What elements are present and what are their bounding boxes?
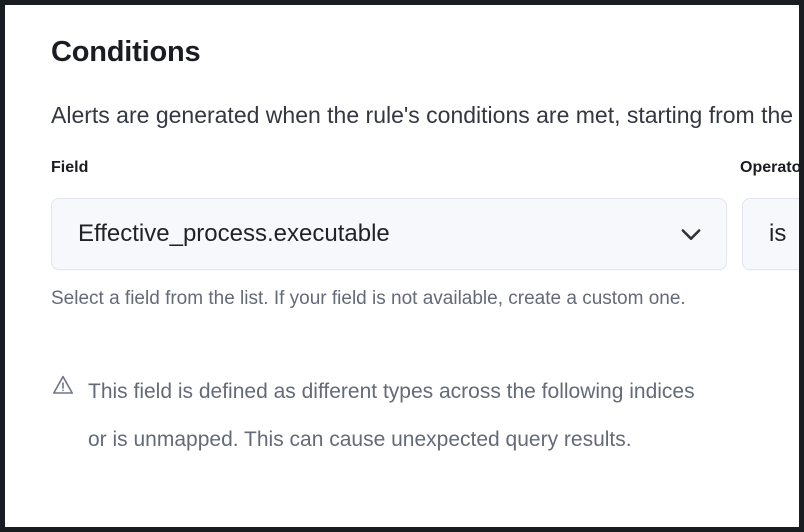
field-warning: This field is defined as different types… xyxy=(51,368,711,464)
operator-select-value: is xyxy=(769,219,799,249)
operator-label: Operator xyxy=(740,158,799,178)
field-helper-text: Select a field from the list. If your fi… xyxy=(51,283,691,314)
panel-description: Alerts are generated when the rule's con… xyxy=(51,100,799,130)
field-warning-text: This field is defined as different types… xyxy=(88,368,711,464)
conditions-panel: Conditions Alerts are generated when the… xyxy=(5,5,799,527)
warning-triangle-icon xyxy=(51,373,75,397)
screenshot-frame: Conditions Alerts are generated when the… xyxy=(0,0,804,532)
field-select[interactable]: Effective_process.executable xyxy=(51,198,727,270)
chevron-down-icon[interactable] xyxy=(674,217,708,251)
field-label: Field xyxy=(51,158,88,178)
operator-select[interactable]: is xyxy=(742,198,799,270)
page-title: Conditions xyxy=(51,35,200,69)
field-select-value: Effective_process.executable xyxy=(78,219,674,249)
